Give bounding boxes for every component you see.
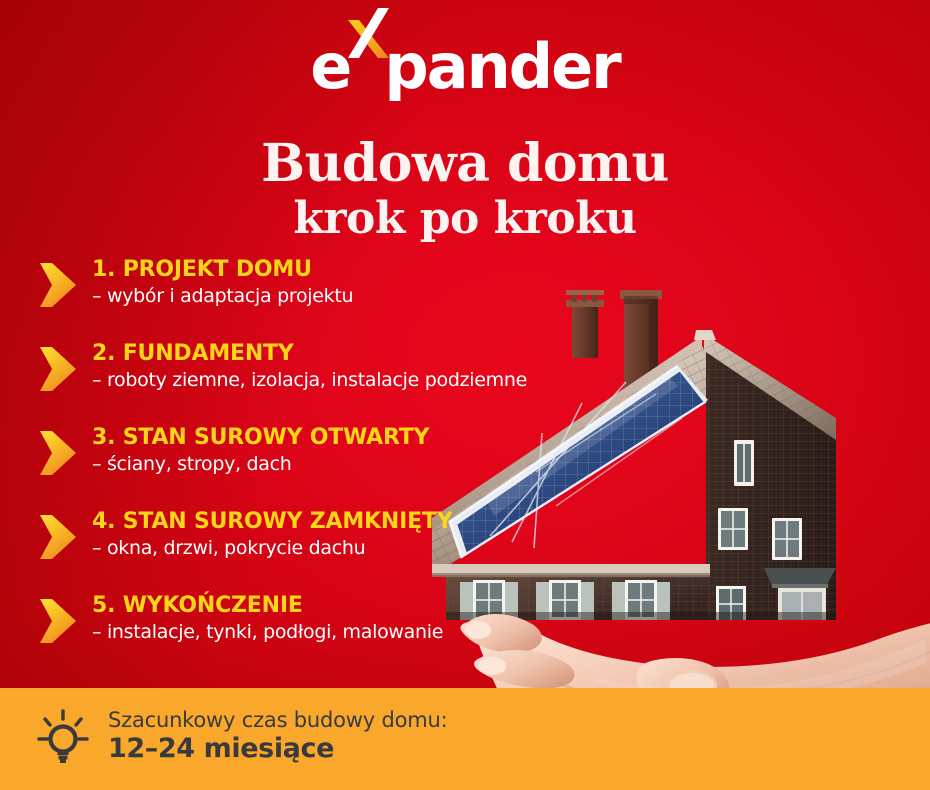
step-title: 1. PROJEKT DOMU (92, 256, 638, 283)
page-title: Budowa domu krok po kroku (0, 136, 930, 244)
step-title: 3. STAN SUROWY OTWARTY (92, 424, 638, 451)
footer-bar: Szacunkowy czas budowy domu: 12–24 miesi… (0, 688, 930, 790)
headline-line-1: Budowa domu (0, 136, 930, 192)
step-description: – okna, drzwi, pokrycie dachu (92, 535, 638, 561)
brand-logo[interactable]: ex pander (0, 36, 930, 98)
step-description: – ściany, stropy, dach (92, 451, 638, 477)
step-item-4: 4. STAN SUROWY ZAMKNIĘTY – okna, drzwi, … (38, 508, 638, 580)
chevron-right-icon (38, 513, 78, 561)
brand-logo-wordmark: ex pander (310, 36, 619, 98)
gable-window-right (772, 518, 802, 560)
step-description: – wybór i adaptacja projektu (92, 283, 638, 309)
step-item-5: 5. WYKOŃCZENIE – instalacje, tynki, podł… (38, 592, 638, 664)
step-description: – roboty ziemne, izolacja, instalacje po… (92, 367, 638, 393)
footer-value: 12–24 miesiące (108, 735, 448, 762)
steps-list: 1. PROJEKT DOMU – wybór i adaptacja proj… (38, 256, 638, 664)
attic-window (734, 440, 754, 486)
step-description: – instalacje, tynki, podłogi, malowanie (92, 619, 638, 645)
brand-logo-text-after: pander (384, 30, 619, 103)
brand-logo-x-letter: x (350, 36, 384, 98)
step-item-3: 3. STAN SUROWY OTWARTY – ściany, stropy,… (38, 424, 638, 496)
chevron-right-icon (38, 345, 78, 393)
footer-label: Szacunkowy czas budowy domu: (108, 710, 448, 731)
step-item-2: 2. FUNDAMENTY – roboty ziemne, izolacja,… (38, 340, 638, 412)
step-title: 5. WYKOŃCZENIE (92, 592, 638, 619)
brand-logo-text-before: e (310, 30, 350, 103)
lightbulb-icon (36, 706, 90, 766)
headline-line-2: krok po kroku (0, 194, 930, 244)
chevron-right-icon (38, 261, 78, 309)
brand-logo-x-text: x (350, 30, 388, 103)
gable-window-left (718, 508, 748, 550)
footer-content: Szacunkowy czas budowy domu: 12–24 miesi… (36, 706, 448, 766)
step-item-1: 1. PROJEKT DOMU – wybór i adaptacja proj… (38, 256, 638, 328)
step-title: 2. FUNDAMENTY (92, 340, 638, 367)
chevron-right-icon (38, 597, 78, 645)
step-title: 4. STAN SUROWY ZAMKNIĘTY (92, 508, 638, 535)
chevron-right-icon (38, 429, 78, 477)
footer-text-block: Szacunkowy czas budowy domu: 12–24 miesi… (108, 710, 448, 762)
infographic-poster: ex pander Budowa domu krok p (0, 0, 930, 790)
